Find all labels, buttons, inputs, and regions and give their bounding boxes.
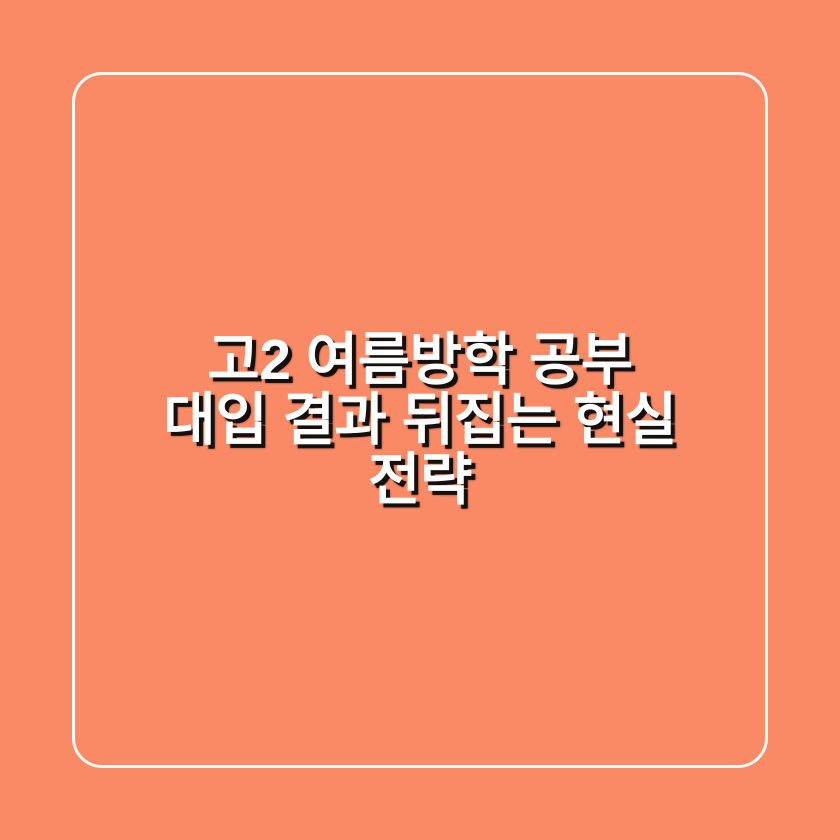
headline-text: 고2 여름방학 공부 대입 결과 뒤집는 현실 전략 xyxy=(56,330,784,510)
thumbnail-canvas: 고2 여름방학 공부 대입 결과 뒤집는 현실 전략 xyxy=(0,0,840,840)
headline-block: 고2 여름방학 공부 대입 결과 뒤집는 현실 전략 xyxy=(0,0,840,840)
